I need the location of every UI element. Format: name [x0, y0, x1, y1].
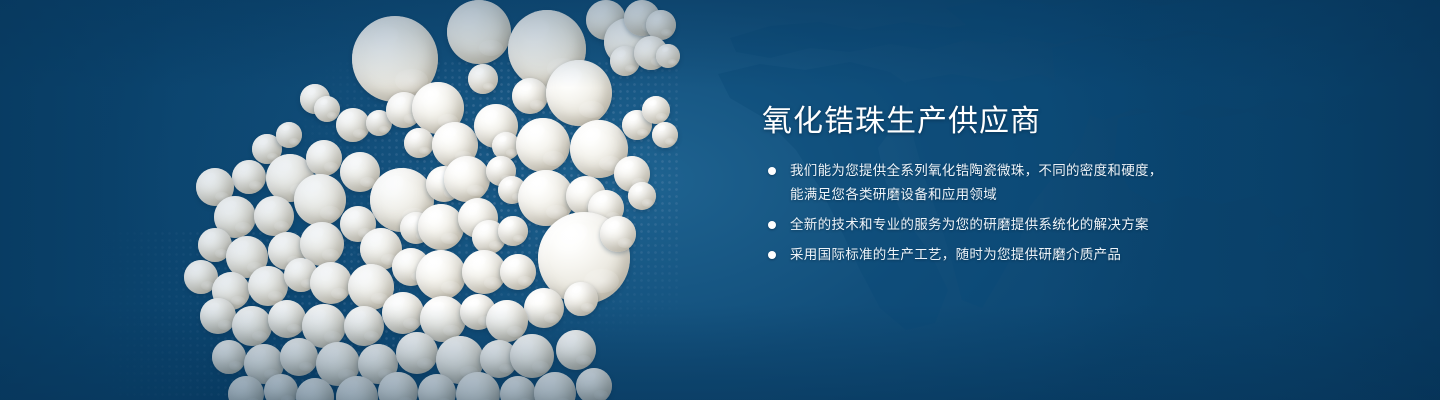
- feature-text-line: 采用国际标准的生产工艺，随时为您提供研磨介质产品: [790, 245, 1322, 265]
- hero-banner: 氧化锆珠生产供应商 我们能为您提供全系列氧化锆陶瓷微珠，不同的密度和硬度，能满足…: [0, 0, 1440, 400]
- feature-text-line: 我们能为您提供全系列氧化锆陶瓷微珠，不同的密度和硬度，: [790, 161, 1322, 181]
- feature-text-line: 能满足您各类研磨设备和应用领域: [790, 185, 1322, 205]
- bullet-dot-icon: [768, 221, 776, 229]
- bullet-dot-icon: [768, 251, 776, 259]
- banner-headline: 氧化锆珠生产供应商: [762, 104, 1322, 139]
- feature-list-item: 我们能为您提供全系列氧化锆陶瓷微珠，不同的密度和硬度，能满足您各类研磨设备和应用…: [762, 161, 1322, 205]
- feature-list-item: 采用国际标准的生产工艺，随时为您提供研磨介质产品: [762, 245, 1322, 265]
- feature-text-line: 全新的技术和专业的服务为您的研磨提供系统化的解决方案: [790, 215, 1322, 235]
- banner-feature-list: 我们能为您提供全系列氧化锆陶瓷微珠，不同的密度和硬度，能满足您各类研磨设备和应用…: [762, 161, 1322, 265]
- banner-content: 氧化锆珠生产供应商 我们能为您提供全系列氧化锆陶瓷微珠，不同的密度和硬度，能满足…: [762, 104, 1322, 265]
- feature-list-item: 全新的技术和专业的服务为您的研磨提供系统化的解决方案: [762, 215, 1322, 235]
- bullet-dot-icon: [768, 167, 776, 175]
